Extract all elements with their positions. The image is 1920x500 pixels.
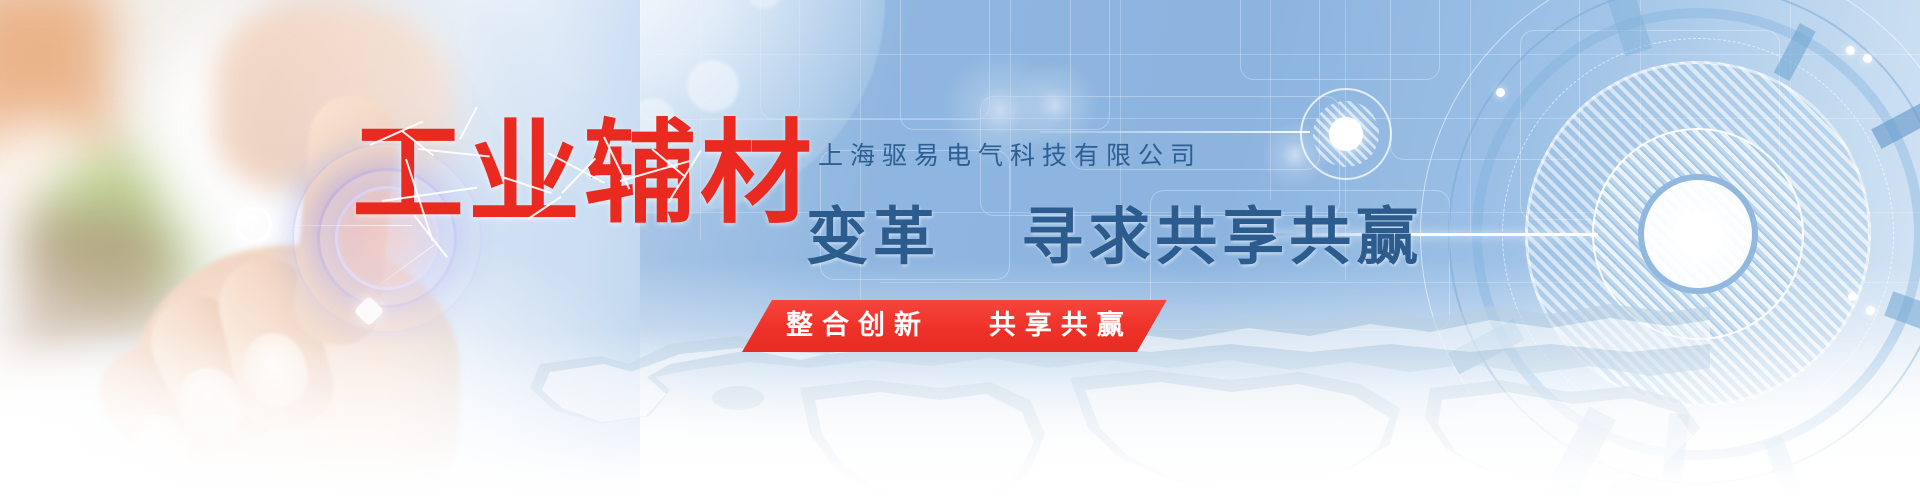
slogan-line: 变革 寻求共享共赢 (806, 186, 1423, 276)
slogan-right: 寻求共享共赢 (1021, 200, 1423, 273)
slogan-left: 变革 (806, 200, 940, 273)
ribbon-tagline: 整合创新 共享共赢 (742, 300, 1167, 352)
headline-title: 工业辅材 (352, 118, 816, 230)
hero-banner: 工业辅材 上海驱易电气科技有限公司 变革 寻求共享共赢 整合创新 (0, 0, 1920, 500)
company-name: 上海驱易电气科技有限公司 (818, 136, 1202, 172)
banner-content: 工业辅材 上海驱易电气科技有限公司 变革 寻求共享共赢 整合创新 (0, 0, 1920, 500)
ribbon-right: 共享共赢 (989, 310, 1133, 341)
ribbon-left: 整合创新 (786, 310, 930, 341)
